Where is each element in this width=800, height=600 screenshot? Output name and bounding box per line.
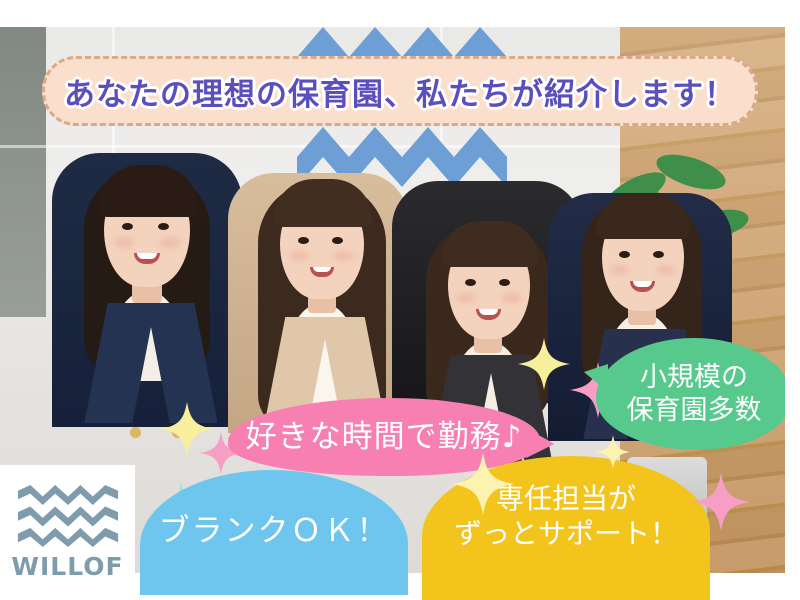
bubble-tail bbox=[584, 364, 608, 392]
blush bbox=[160, 237, 180, 248]
blush bbox=[656, 265, 675, 275]
blush bbox=[456, 293, 475, 303]
willof-logo-text: WILLOF bbox=[11, 552, 123, 581]
blush bbox=[610, 265, 629, 275]
eye-right bbox=[158, 223, 169, 230]
frame-top-margin bbox=[0, 0, 800, 27]
blank-ok-bubble-text: ブランクＯＫ！ bbox=[159, 512, 390, 550]
eye-left bbox=[465, 279, 476, 286]
advertisement-banner: WILLOF bbox=[0, 0, 800, 600]
eye-right bbox=[653, 251, 664, 258]
eye-left bbox=[619, 251, 630, 258]
sparkle-yellow-4-icon bbox=[596, 432, 630, 472]
blush bbox=[114, 237, 134, 248]
blush bbox=[290, 251, 309, 261]
teeth bbox=[479, 309, 498, 315]
headline-banner: あなたの理想の保育園、私たちが紹介します！ bbox=[42, 56, 758, 126]
sparkle-pink-3-icon bbox=[692, 468, 750, 536]
eye-left bbox=[122, 223, 133, 230]
blazer-button bbox=[130, 427, 141, 438]
small-nursery-bubble-text: 小規模の 保育園多数 bbox=[627, 361, 762, 428]
blush bbox=[334, 251, 353, 261]
blush bbox=[502, 293, 521, 303]
sparkle-yellow-3-icon bbox=[452, 448, 514, 520]
sparkle-yellow-2-icon bbox=[518, 334, 570, 394]
headline-text: あなたの理想の保育園、私たちが紹介します！ bbox=[64, 69, 736, 114]
eye-right bbox=[499, 279, 510, 286]
eye-left bbox=[298, 237, 309, 244]
teeth bbox=[313, 267, 331, 272]
eye-right bbox=[332, 237, 343, 244]
willof-zigzag-logo-icon bbox=[16, 485, 120, 547]
teeth bbox=[633, 281, 652, 287]
wall-left-edge bbox=[0, 27, 46, 317]
teeth bbox=[137, 253, 157, 259]
frame-right-margin bbox=[785, 0, 800, 600]
willof-logo-badge[interactable]: WILLOF bbox=[0, 465, 135, 600]
